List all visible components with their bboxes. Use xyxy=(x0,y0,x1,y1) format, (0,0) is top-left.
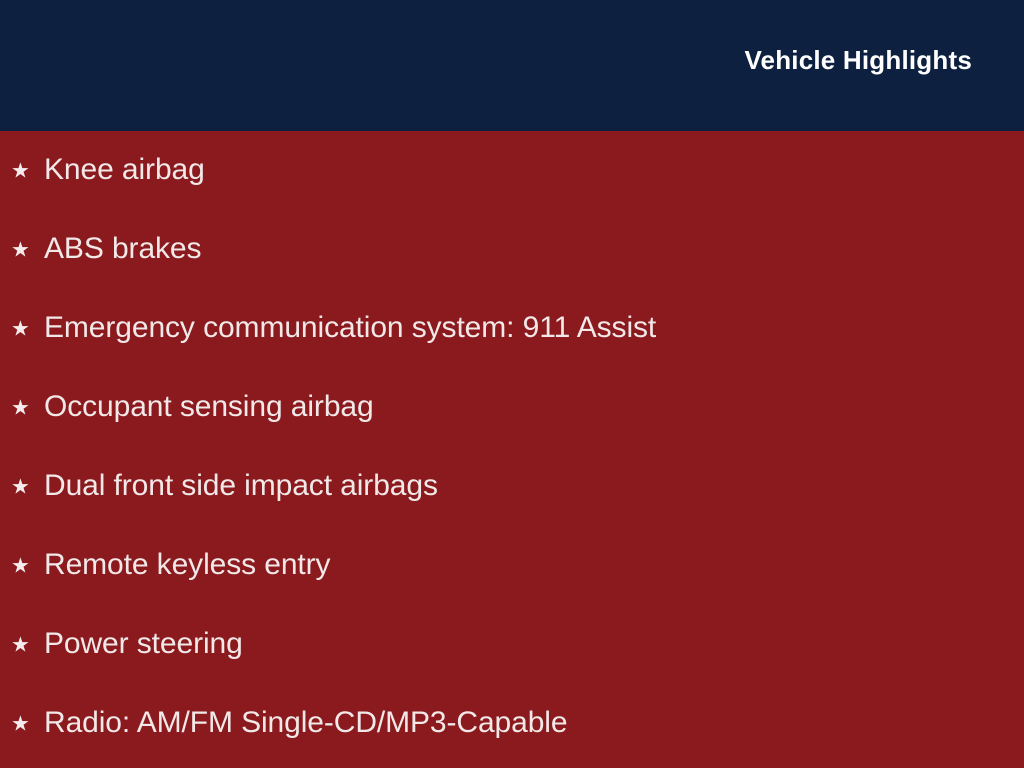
slide-header-band: Vehicle Highlights xyxy=(0,0,1024,131)
list-item-label: Power steering xyxy=(44,627,243,662)
vehicle-highlights-slide: Vehicle Highlights ★ Knee airbag ★ ABS b… xyxy=(0,0,1024,768)
list-item: ★ Power steering xyxy=(0,605,1024,684)
list-item: ★ Remote keyless entry xyxy=(0,526,1024,605)
list-item: ★ Knee airbag xyxy=(0,131,1024,210)
list-item-label: Knee airbag xyxy=(44,153,205,188)
star-icon: ★ xyxy=(11,160,33,181)
list-item-label: Emergency communication system: 911 Assi… xyxy=(44,311,656,346)
star-icon: ★ xyxy=(11,239,33,260)
star-icon: ★ xyxy=(11,318,33,339)
list-item: ★ Emergency communication system: 911 As… xyxy=(0,289,1024,368)
list-item: ★ Occupant sensing airbag xyxy=(0,368,1024,447)
list-item-label: Remote keyless entry xyxy=(44,548,330,583)
list-item-label: Dual front side impact airbags xyxy=(44,469,438,504)
star-icon: ★ xyxy=(11,634,33,655)
page-title: Vehicle Highlights xyxy=(744,47,972,73)
list-item-label: ABS brakes xyxy=(44,232,201,267)
list-item-label: Occupant sensing airbag xyxy=(44,390,374,425)
star-icon: ★ xyxy=(11,713,33,734)
list-item: ★ ABS brakes xyxy=(0,210,1024,289)
star-icon: ★ xyxy=(11,555,33,576)
list-item: ★ Radio: AM/FM Single-CD/MP3-Capable xyxy=(0,684,1024,763)
list-item: ★ Dual front side impact airbags xyxy=(0,447,1024,526)
vehicle-highlights-list: ★ Knee airbag ★ ABS brakes ★ Emergency c… xyxy=(0,131,1024,763)
slide-content-body: ★ Knee airbag ★ ABS brakes ★ Emergency c… xyxy=(0,131,1024,768)
star-icon: ★ xyxy=(11,397,33,418)
star-icon: ★ xyxy=(11,476,33,497)
list-item-label: Radio: AM/FM Single-CD/MP3-Capable xyxy=(44,706,567,741)
